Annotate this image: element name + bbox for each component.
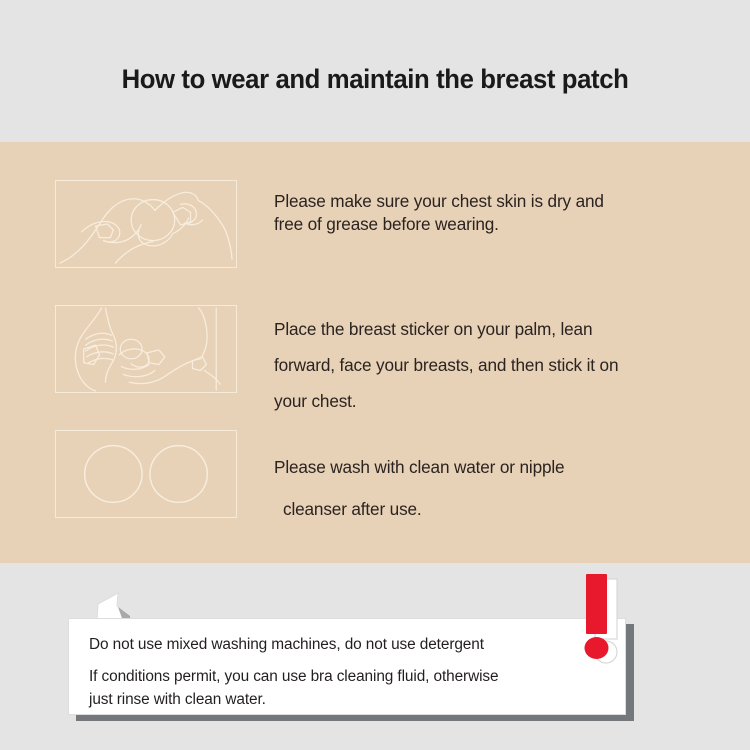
steps-band: Please make sure your chest skin is dry … (0, 142, 750, 563)
step-line: Place the breast sticker on your palm, l… (274, 311, 732, 347)
step-description: Place the breast sticker on your palm, l… (274, 311, 732, 419)
warning-text: Do not use mixed washing machines, do no… (89, 632, 569, 711)
step-line: Please make sure your chest skin is dry … (274, 190, 732, 213)
page-title: How to wear and maintain the breast patc… (11, 64, 739, 95)
step-line: Please wash with clean water or nipple (274, 446, 732, 488)
step-description: Please wash with clean water or nipple c… (274, 446, 732, 530)
warning-line: If conditions permit, you can use bra cl… (89, 658, 569, 689)
exclamation-mark-icon (578, 572, 638, 664)
step-line: forward, face your breasts, and then sti… (274, 347, 732, 383)
two-hands-holding-patch-illustration (55, 180, 237, 268)
instruction-page: How to wear and maintain the breast patc… (0, 0, 750, 750)
warning-line: just rinse with clean water. (89, 689, 569, 711)
step-line: free of grease before wearing. (274, 213, 732, 236)
step-line: your chest. (274, 383, 732, 419)
step-description: Please make sure your chest skin is dry … (274, 190, 732, 236)
header-band: How to wear and maintain the breast patc… (0, 0, 750, 142)
two-circular-patches-illustration (55, 430, 237, 518)
warning-line: Do not use mixed washing machines, do no… (89, 632, 569, 658)
step-line: cleanser after use. (274, 488, 732, 530)
warning-callout: Do not use mixed washing machines, do no… (68, 618, 626, 715)
hand-applying-patch-to-chest-illustration (55, 305, 237, 393)
